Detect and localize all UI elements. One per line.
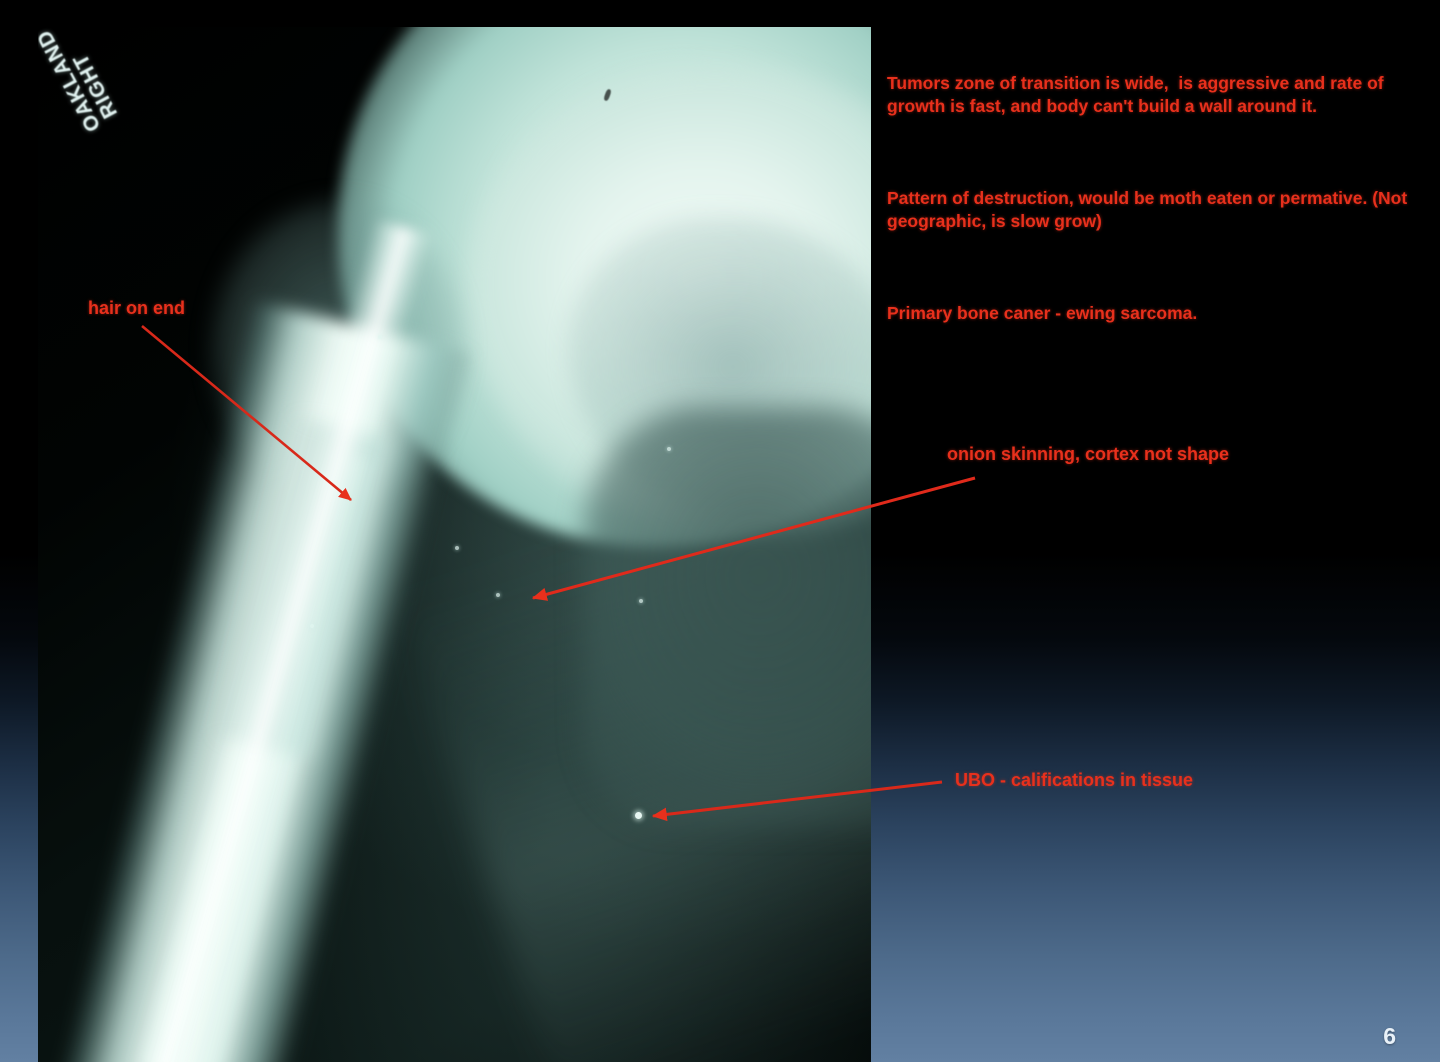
lecture-notes-block: Tumors zone of transition is wide, is ag… — [887, 26, 1417, 371]
note-paragraph-3: Primary bone caner - ewing sarcoma. — [887, 302, 1417, 325]
xray-calcification-fleck — [635, 812, 642, 819]
xray-speck — [378, 335, 382, 339]
xray-speck — [496, 593, 500, 597]
xray-speck — [667, 447, 671, 451]
xray-speck — [455, 546, 459, 550]
note-paragraph-2: Pattern of destruction, would be moth ea… — [887, 187, 1417, 233]
annotation-label-hair-on-end: hair on end — [88, 298, 185, 319]
annotation-label-onion-skinning: onion skinning, cortex not shape — [947, 444, 1229, 465]
xray-soft-tissue-shadow — [583, 407, 871, 827]
xray-image: OAKLAND RIGHT — [38, 27, 871, 1062]
page-number: 6 — [1383, 1023, 1396, 1050]
xray-speck — [639, 599, 643, 603]
xray-speck — [310, 624, 314, 628]
slide-canvas: OAKLAND RIGHT Tumors zone of transition … — [0, 0, 1440, 1062]
note-paragraph-1: Tumors zone of transition is wide, is ag… — [887, 72, 1417, 118]
annotation-label-ubo-calcifications: UBO - califications in tissue — [955, 770, 1193, 791]
